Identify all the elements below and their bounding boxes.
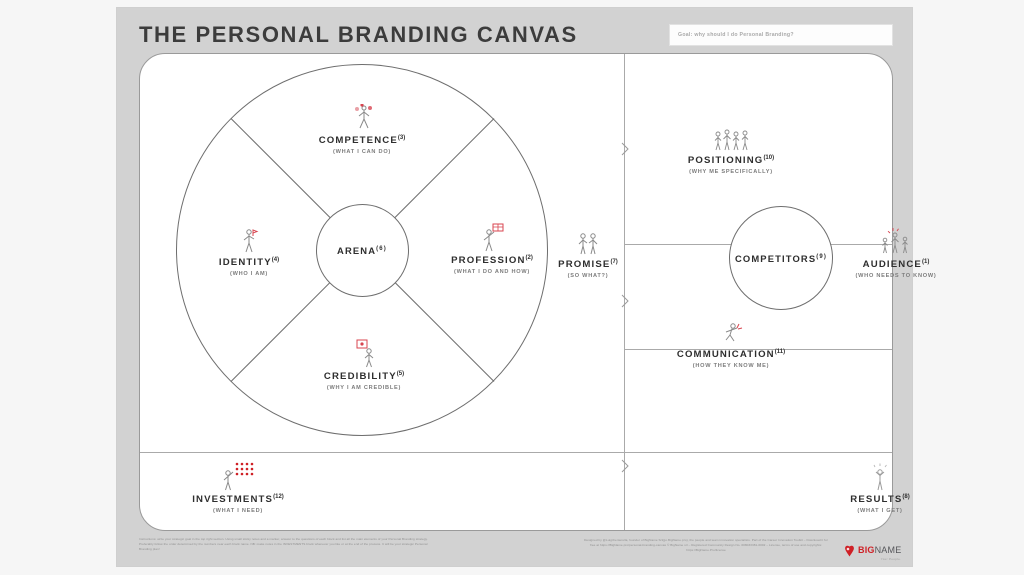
block-subtitle: (WHY I AM CREDIBLE) <box>290 385 438 391</box>
logo-name-text: NAME <box>875 545 902 555</box>
block-communication[interactable]: COMMUNICATION(11) (HOW THEY KNOW ME) <box>640 316 822 369</box>
people-group-icon <box>816 226 976 256</box>
bigname-logo: BIGNAME Your People. <box>844 541 901 561</box>
person-with-dot-grid-icon <box>148 461 328 491</box>
block-title: INVESTMENTS(12) <box>148 494 328 506</box>
two-people-icon <box>531 226 645 256</box>
page-title: THE PERSONAL BRANDING CANVAS <box>139 22 578 48</box>
block-subtitle: (SO WHAT?) <box>531 273 645 279</box>
block-subtitle: (WHAT I CAN DO) <box>285 149 439 155</box>
logo-tagline: Your People. <box>858 558 901 561</box>
arena-center-circle[interactable]: ARENA(6) <box>316 204 409 297</box>
credits-text: Designed by @LuigiCenterella, founder of… <box>583 538 829 552</box>
block-subtitle: (HOW THEY KNOW ME) <box>640 363 822 369</box>
goal-input[interactable]: Goal: why should I do Personal Branding? <box>669 24 893 46</box>
chevron-right-icon <box>621 294 630 308</box>
block-competence[interactable]: COMPETENCE(3) (WHAT I CAN DO) <box>285 102 439 155</box>
instructions-text: Instructions: write your strategic goal … <box>139 537 439 551</box>
block-promise[interactable]: PROMISE(7) (SO WHAT?) <box>531 226 645 279</box>
block-subtitle: (WHO NEEDS TO KNOW) <box>816 273 976 279</box>
block-investments[interactable]: INVESTMENTS(12) (WHAT I NEED) <box>148 461 328 514</box>
block-title: POSITIONING(10) <box>646 155 816 167</box>
divider-bottom-row <box>140 452 892 453</box>
block-title: RESULTS(8) <box>800 494 960 506</box>
block-subtitle: (WHAT I GET) <box>800 508 960 514</box>
logo-mark-icon <box>844 545 855 557</box>
chevron-right-icon <box>621 459 630 473</box>
block-audience[interactable]: AUDIENCE(1) (WHO NEEDS TO KNOW) <box>816 226 976 279</box>
logo-wordmark: BIGNAME Your People. <box>858 541 901 561</box>
block-title: CREDIBILITY(5) <box>290 371 438 383</box>
screenshot-root: THE PERSONAL BRANDING CANVAS Goal: why s… <box>0 0 1024 575</box>
person-with-badge-icon <box>290 338 438 368</box>
person-running-icon <box>640 316 822 346</box>
block-identity[interactable]: IDENTITY(4) (WHO I AM) <box>184 224 314 277</box>
person-juggling-icon <box>285 102 439 132</box>
goal-input-value: Goal: why should I do Personal Branding? <box>678 32 794 38</box>
chevron-right-icon <box>621 142 630 156</box>
block-positioning[interactable]: POSITIONING(10) (WHY ME SPECIFICALLY) <box>646 122 816 175</box>
footer-credits: Designed by @LuigiCenterella, founder of… <box>583 538 829 552</box>
footer-instructions: Instructions: write your strategic goal … <box>139 537 439 551</box>
logo-big-text: BIG <box>858 545 875 555</box>
arena-label: ARENA(6) <box>337 245 387 256</box>
block-title: PROMISE(7) <box>531 259 645 271</box>
person-celebrating-icon <box>800 461 960 491</box>
block-title: COMPETENCE(3) <box>285 135 439 147</box>
canvas-board: ARENA(6) COMPETITORS(9) CO <box>139 53 893 531</box>
block-title: COMMUNICATION(11) <box>640 349 822 361</box>
competitors-label: COMPETITORS(9) <box>735 253 827 264</box>
block-subtitle: (WHAT I NEED) <box>148 508 328 514</box>
person-standing-icon <box>184 224 314 254</box>
personal-branding-canvas-poster: THE PERSONAL BRANDING CANVAS Goal: why s… <box>117 8 912 566</box>
block-results[interactable]: RESULTS(8) (WHAT I GET) <box>800 461 960 514</box>
crowd-icon <box>646 122 816 152</box>
block-title: AUDIENCE(1) <box>816 259 976 271</box>
block-subtitle: (WHY ME SPECIFICALLY) <box>646 169 816 175</box>
block-credibility[interactable]: CREDIBILITY(5) (WHY I AM CREDIBLE) <box>290 338 438 391</box>
block-subtitle: (WHO I AM) <box>184 271 314 277</box>
block-title: IDENTITY(4) <box>184 257 314 269</box>
